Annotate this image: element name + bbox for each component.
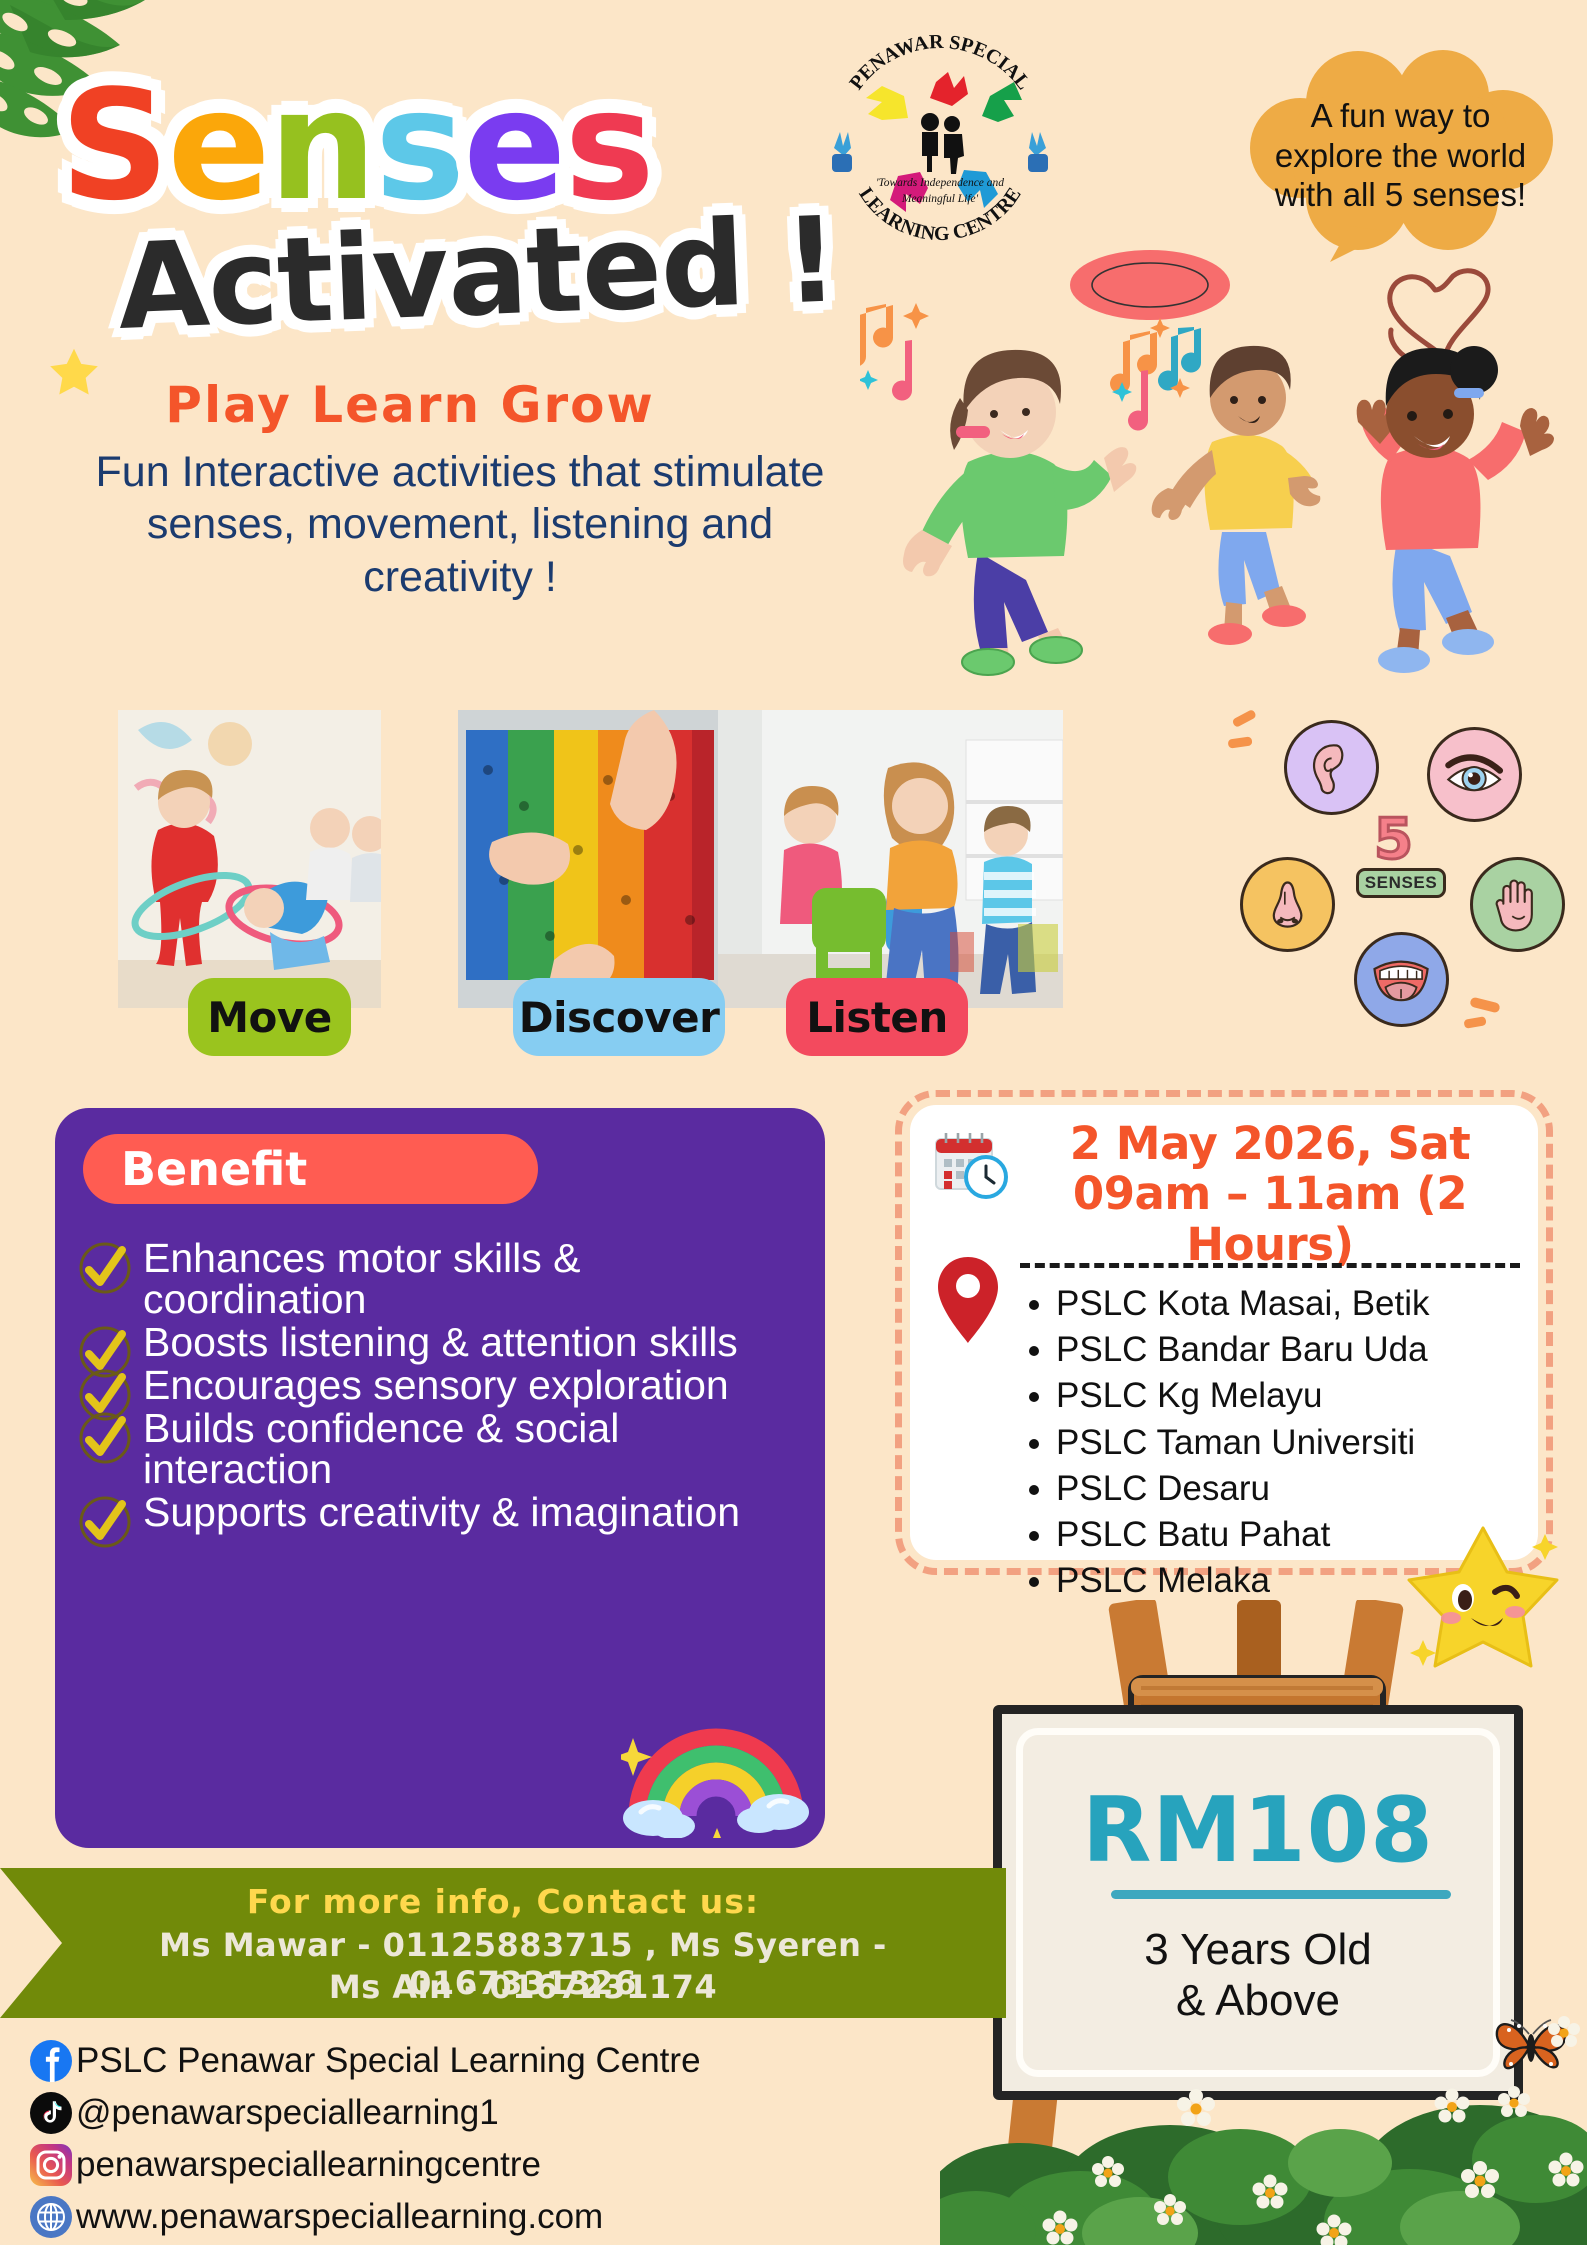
rainbow-icon [621,1688,811,1838]
venue-item: PSLC Batu Pahat [1056,1512,1430,1558]
benefit-text: Enhances motor skills & coordination [143,1238,797,1320]
benefit-text: Supports creativity & imagination [143,1492,797,1533]
eye-icon [1427,727,1522,822]
venue-item: PSLC Kota Masai, Betik [1056,1281,1430,1327]
pslc-logo: PENAWAR SPECIAL LEARNING CENTRE 'Towards… [820,28,1060,243]
event-time-line: 09am – 11am (2 Hours) [1010,1169,1530,1270]
senses-label-chip: SENSES [1356,868,1446,898]
contact-heading: For more info, Contact us: [0,1882,1006,1921]
benefit-item: Encourages sensory exploration [77,1365,797,1406]
title-letter: e [167,70,268,222]
tagline-play-learn-grow: Play Learn Grow [60,376,760,434]
logo-tagline-line2: Meaningful Life' [901,193,979,205]
website-icon[interactable] [30,2196,72,2238]
social-links: PSLC Penawar Special Learning Centre @pe… [30,2036,701,2244]
benefit-item: Supports creativity & imagination [77,1492,797,1533]
title-block: Senses Activated ! Play Learn Grow Fun I… [60,70,860,603]
benefit-heading: Benefit [83,1134,538,1204]
event-details-card: 2 May 2026, Sat 09am – 11am (2 Hours) PS… [910,1105,1538,1560]
intro-description: Fun Interactive activities that stimulat… [60,446,860,603]
logo-tagline-line1: 'Towards Independence and [876,177,1004,189]
check-icon [77,1240,133,1296]
title-letter: s [375,70,463,222]
benefit-text: Encourages sensory exploration [143,1365,797,1406]
contact-line-2: Ms Ain - 0167231174 [40,1968,1006,2006]
event-datetime: 2 May 2026, Sat 09am – 11am (2 Hours) [1010,1119,1530,1270]
photo-move [118,710,381,1008]
child-green-illustration [903,350,1136,675]
venue-item: PSLC Kg Melayu [1056,1373,1430,1419]
hand-icon [1470,857,1565,952]
tiktok-icon[interactable] [30,2092,72,2134]
divider-dashed [1020,1263,1520,1268]
calendar-clock-icon [932,1127,1010,1205]
nose-icon [1240,857,1335,952]
venue-item: PSLC Desaru [1056,1466,1430,1512]
venue-item: PSLC Taman Universiti [1056,1420,1430,1466]
venue-item: PSLC Bandar Baru Uda [1056,1327,1430,1373]
facebook-handle: PSLC Penawar Special Learning Centre [76,2041,701,2081]
benefit-text: Builds confidence & social interaction [143,1408,797,1490]
venue-item: PSLC Melaka [1056,1558,1430,1604]
benefit-item: Builds confidence & social interaction [77,1408,797,1490]
title-letter: n [269,70,375,222]
title-letter: S [60,70,167,222]
benefit-list: Enhances motor skills & coordination Boo… [77,1238,797,1535]
title-letter: e [463,70,564,222]
poster-root: Senses Activated ! Play Learn Grow Fun I… [0,0,1587,2245]
price-age-requirement: 3 Years Old & Above [1016,1924,1500,2026]
five-senses-cluster: 5 SENSES [1222,692,1587,1032]
child-coral-illustration [1357,346,1554,673]
benefit-text: Boosts listening & attention skills [143,1322,797,1363]
social-row-tiktok[interactable]: @penawarspeciallearning1 [30,2088,701,2138]
benefit-item: Boosts listening & attention skills [77,1322,797,1363]
event-date-line: 2 May 2026, Sat [1010,1119,1530,1169]
tiktok-handle: @penawarspeciallearning1 [76,2093,499,2133]
check-icon [77,1494,133,1550]
activity-photo-cards: Move Discover Listen [118,710,1198,1050]
page-subtitle-activated: Activated ! [116,198,862,350]
photo-listen [718,710,1063,1008]
photo-tag-listen: Listen [786,978,968,1056]
social-row-facebook[interactable]: PSLC Penawar Special Learning Centre [30,2036,701,2086]
check-icon [77,1410,133,1466]
venue-list: PSLC Kota Masai, Betik PSLC Bandar Baru … [1030,1281,1430,1604]
photo-tag-move: Move [188,978,351,1056]
location-pin-icon [934,1255,1002,1345]
instagram-icon[interactable] [30,2144,72,2186]
kids-illustration [860,230,1587,680]
mouth-icon [1354,932,1449,1027]
facebook-icon[interactable] [30,2040,72,2082]
photo-tag-discover: Discover [513,978,725,1056]
social-row-website[interactable]: www.penawarspeciallearning.com [30,2192,701,2242]
price-underline [1111,1890,1451,1899]
price-amount: RM108 [1016,1778,1500,1883]
benefit-panel: Benefit Enhances motor skills & coordina… [55,1108,825,1848]
flower-bush-decoration [940,2015,1587,2245]
frisbee-icon [1070,250,1230,320]
five-number: 5 [1374,812,1413,868]
photo-discover [458,710,721,1008]
price-age-line1: 3 Years Old [1016,1924,1500,1975]
benefit-item: Enhances motor skills & coordination [77,1238,797,1320]
instagram-handle: penawarspeciallearningcentre [76,2145,541,2185]
contact-ribbon: For more info, Contact us: Ms Mawar - 01… [0,1868,1006,2018]
social-row-instagram[interactable]: penawarspeciallearningcentre [30,2140,701,2190]
website-url: www.penawarspeciallearning.com [76,2197,603,2237]
ear-icon [1284,720,1379,815]
